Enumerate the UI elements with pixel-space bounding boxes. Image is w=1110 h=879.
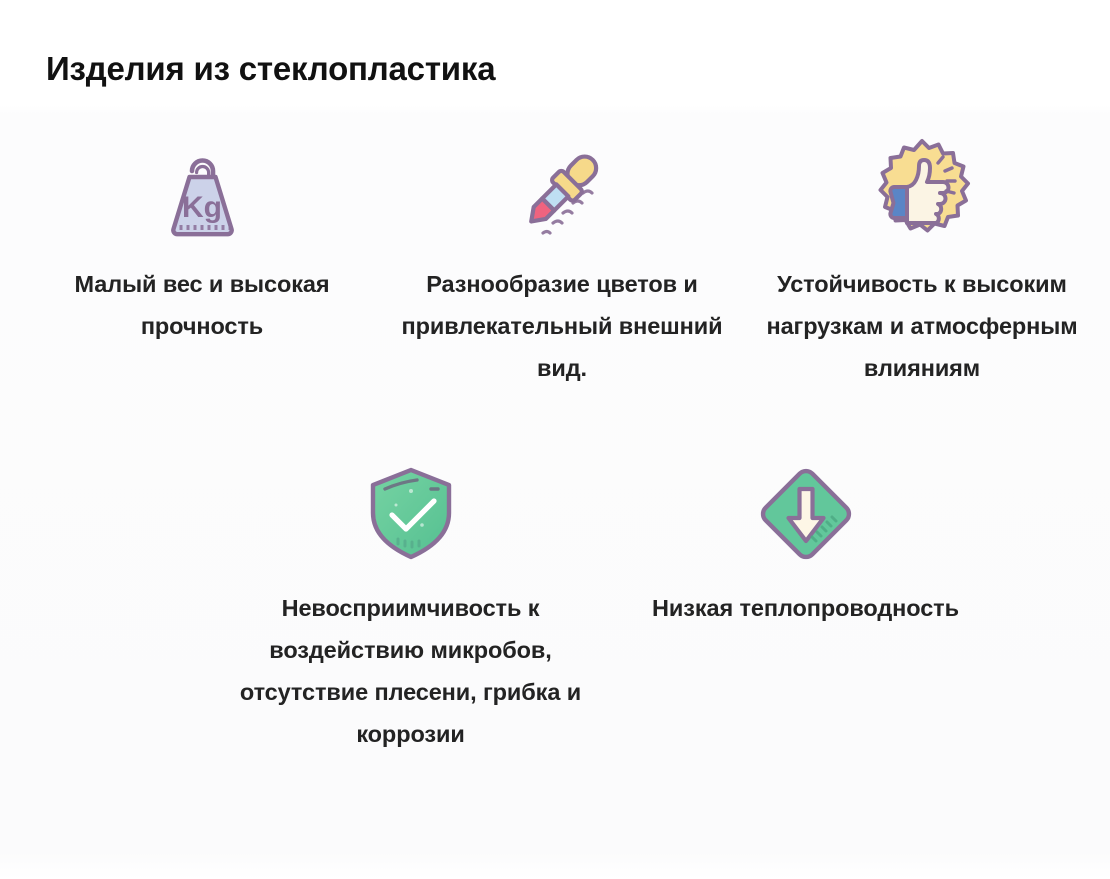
- features-row-top: Kg: [0, 130, 1110, 389]
- feature-label-colors: Разнообразие цветов и привлекательный вн…: [390, 264, 735, 389]
- feature-item-biological: Невосприимчивость к воздействию микробов…: [213, 454, 608, 755]
- pipette-dropper-icon: [507, 130, 617, 250]
- feature-item-colors: Разнообразие цветов и привлекательный вн…: [382, 130, 742, 389]
- down-arrow-diamond-icon: [751, 454, 861, 574]
- feature-label-thermal: Низкая теплопроводность: [652, 588, 959, 630]
- features-grid: Kg: [0, 130, 1110, 756]
- feature-label-durability: Устойчивость к высоким нагрузкам и атмос…: [750, 264, 1095, 389]
- page-title: Изделия из стеклопластика: [46, 50, 495, 88]
- thumbs-up-badge-icon: [867, 130, 977, 250]
- feature-label-weight: Малый вес и высокая прочность: [37, 264, 367, 348]
- feature-item-weight: Kg: [22, 130, 382, 389]
- infographic-page: Изделия из стеклопластика Kg: [0, 0, 1110, 879]
- weight-kg-icon: Kg: [147, 130, 257, 250]
- feature-item-durability: Устойчивость к высоким нагрузкам и атмос…: [742, 130, 1102, 389]
- features-row-bottom: Невосприимчивость к воздействию микробов…: [0, 454, 1110, 755]
- feature-item-thermal: Низкая теплопроводность: [608, 454, 1003, 755]
- shield-check-icon: [356, 454, 466, 574]
- feature-label-biological: Невосприимчивость к воздействию микробов…: [238, 588, 583, 755]
- svg-text:Kg: Kg: [182, 191, 222, 224]
